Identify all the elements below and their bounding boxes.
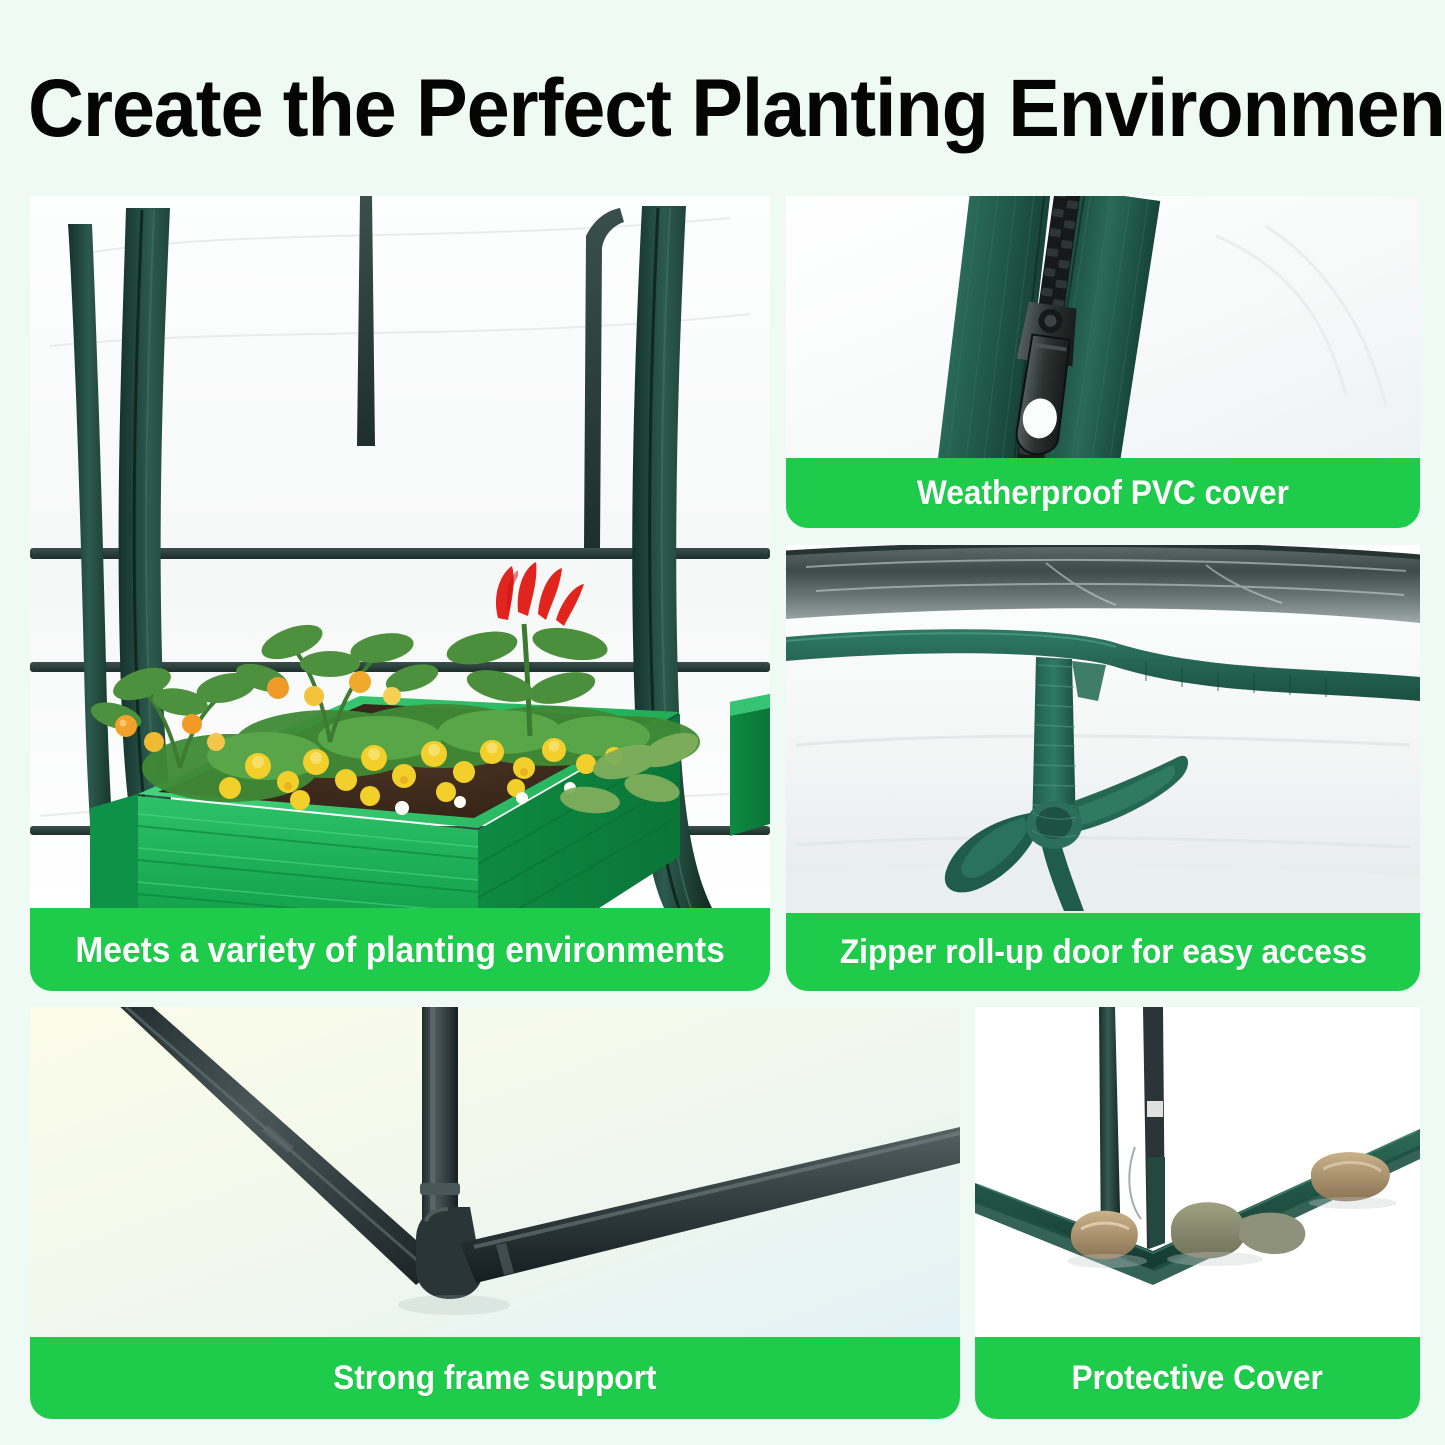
zipper-illustration bbox=[786, 196, 1420, 458]
photo-frame-corner-joint bbox=[30, 1007, 960, 1337]
photo-zipper-closeup bbox=[786, 196, 1420, 458]
frame-joint-illustration bbox=[30, 1007, 960, 1337]
secondary-raised-bed bbox=[730, 694, 770, 836]
panel-protective-cover: Protective Cover bbox=[975, 1007, 1420, 1419]
panel-frame-support: Strong frame support bbox=[30, 1007, 960, 1419]
panel-rollup-door: Zipper roll-up door for easy access bbox=[786, 545, 1420, 991]
greenhouse-scene-illustration bbox=[30, 196, 770, 908]
photo-base-skirt-with-rocks bbox=[975, 1007, 1420, 1337]
photo-tie-strap-closeup bbox=[786, 545, 1420, 913]
tie-strap-illustration bbox=[786, 545, 1420, 913]
caption-frame-support: Strong frame support bbox=[30, 1337, 960, 1419]
caption-rollup-door: Zipper roll-up door for easy access bbox=[786, 913, 1420, 991]
photo-greenhouse-with-raised-bed bbox=[30, 196, 770, 908]
panel-pvc-cover: Weatherproof PVC cover bbox=[786, 196, 1420, 528]
caption-protective-cover: Protective Cover bbox=[975, 1337, 1420, 1419]
product-infographic: Create the Perfect Planting Environment bbox=[0, 0, 1445, 1445]
protective-cover-illustration bbox=[975, 1007, 1420, 1337]
page-title: Create the Perfect Planting Environment bbox=[28, 56, 1351, 161]
caption-planting-environments: Meets a variety of planting environments bbox=[30, 908, 770, 991]
panel-planting-environments: Meets a variety of planting environments bbox=[30, 196, 770, 991]
caption-pvc-cover: Weatherproof PVC cover bbox=[786, 458, 1420, 528]
